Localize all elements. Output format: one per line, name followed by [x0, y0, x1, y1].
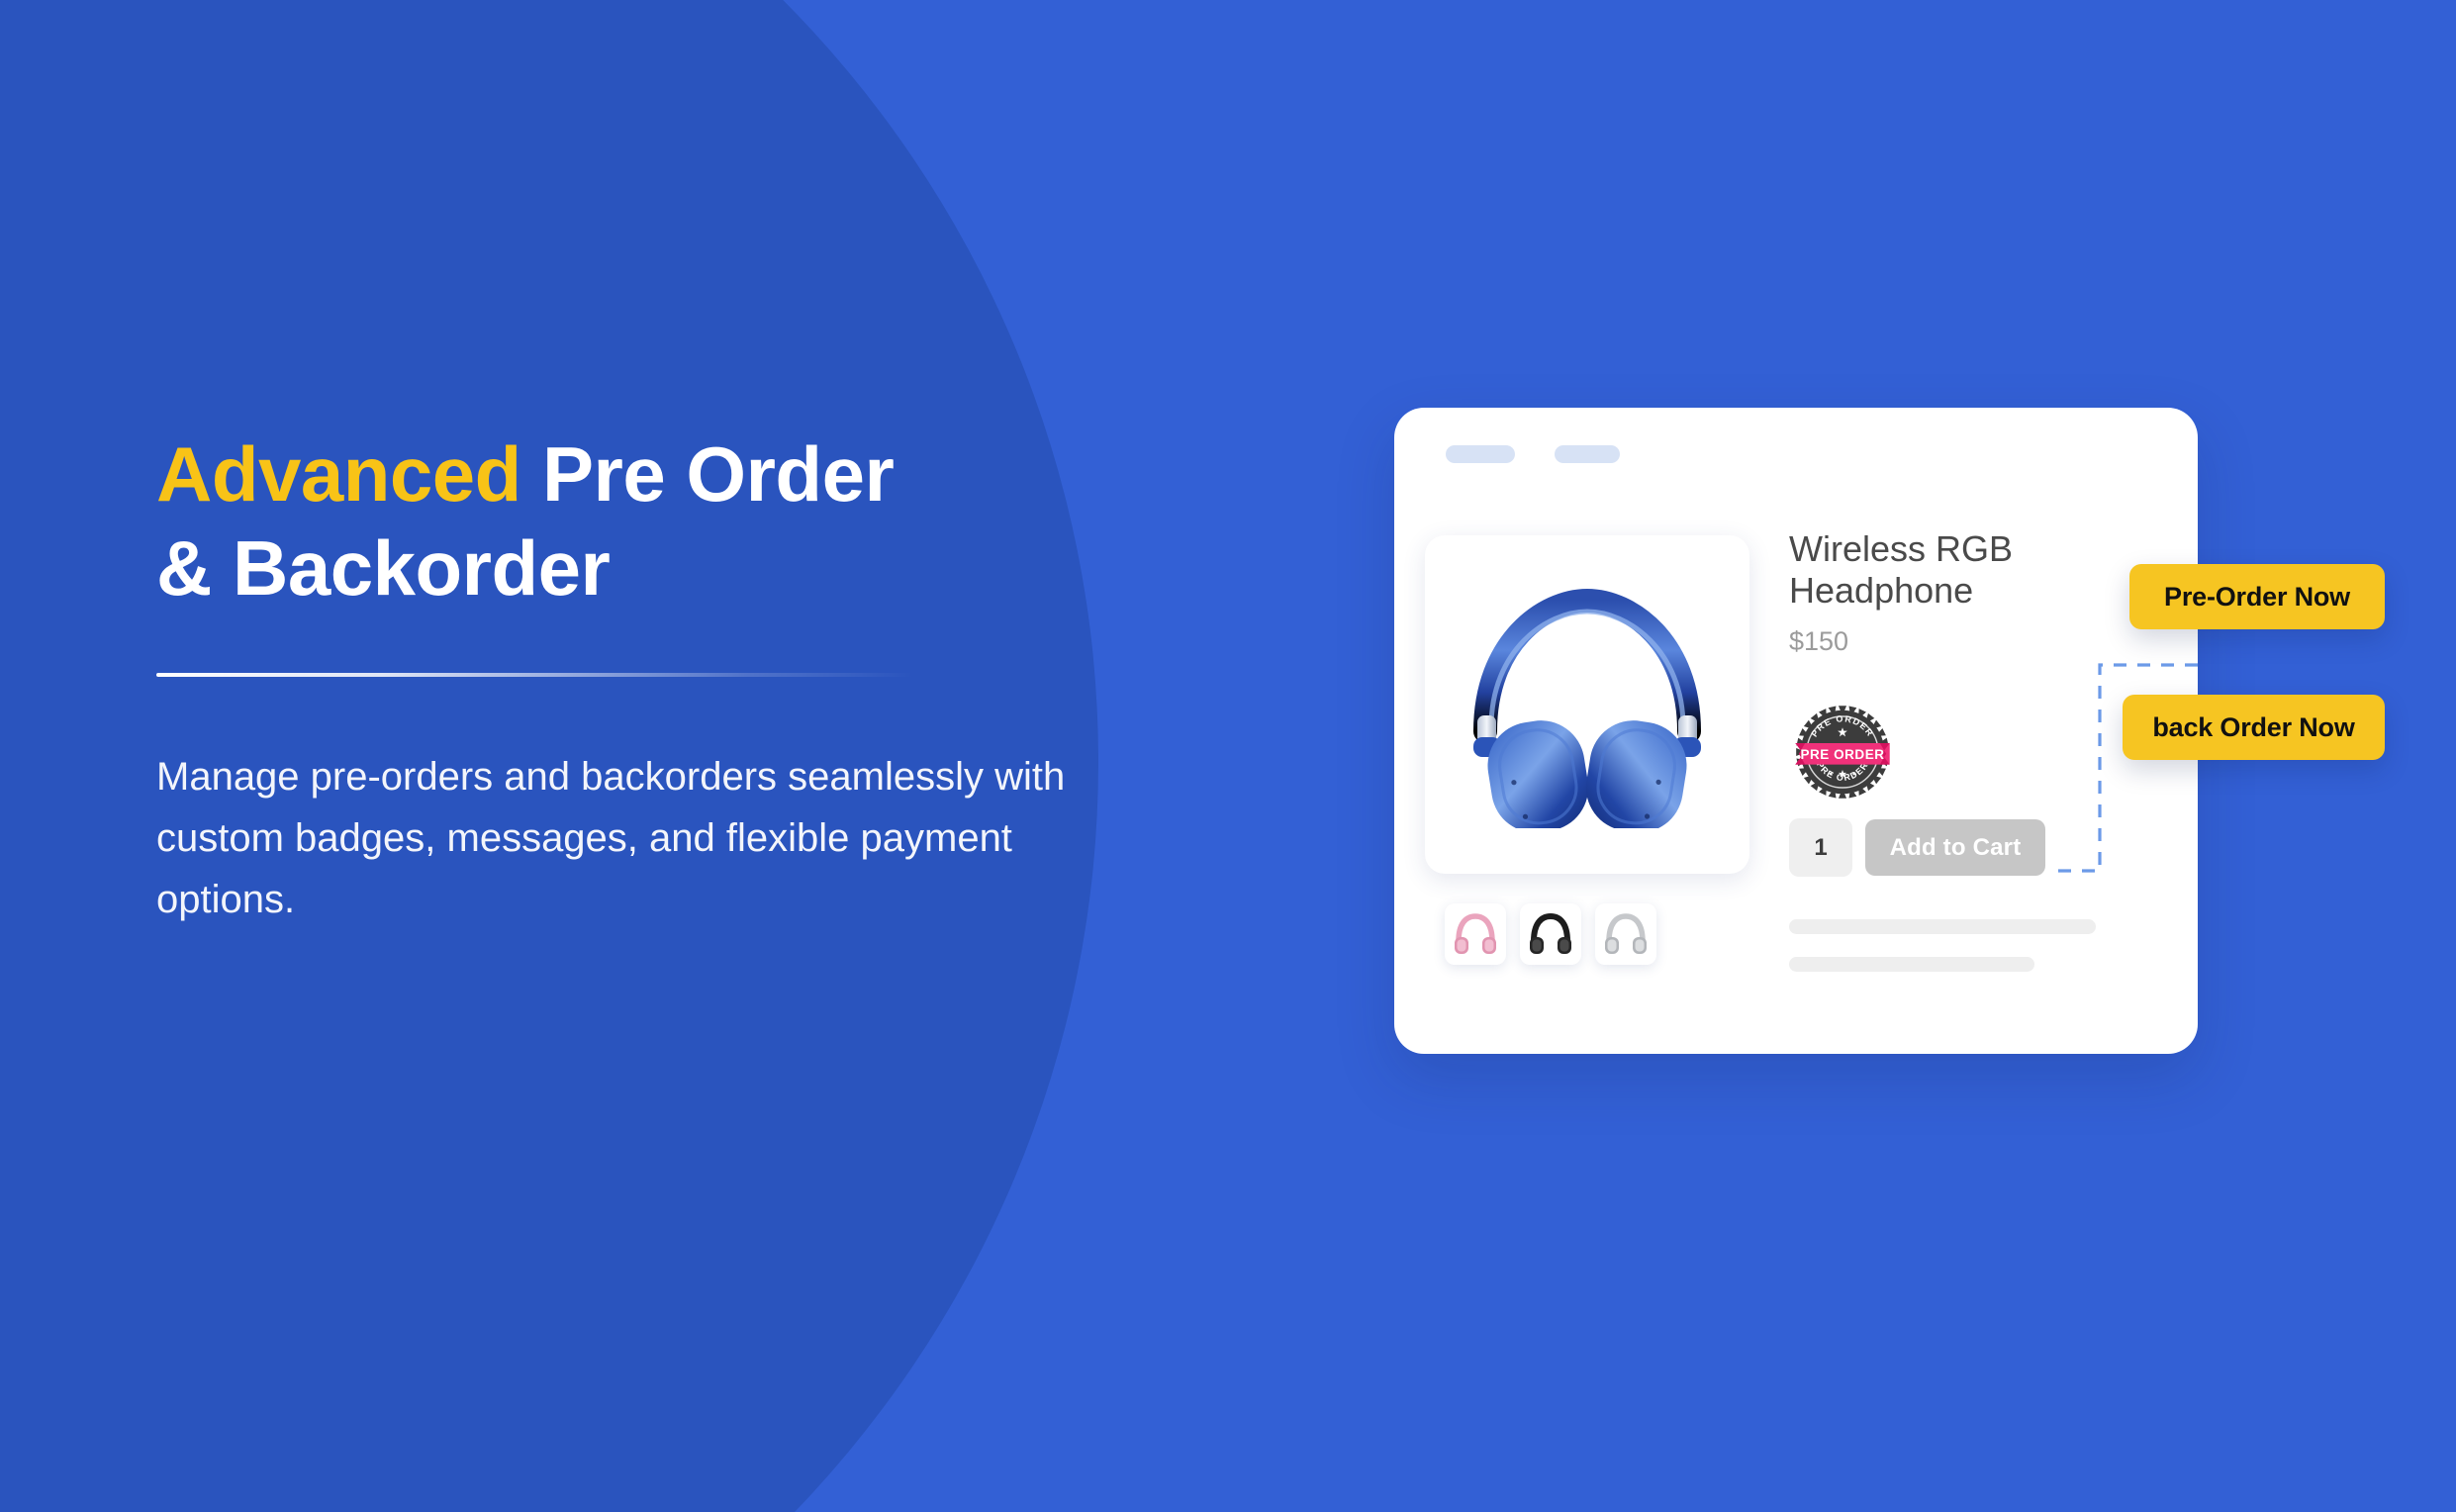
pink-headphone-icon [1451, 911, 1500, 957]
hero-banner: Advanced Pre Order & Backorder Manage pr… [0, 0, 2456, 1512]
product-card: Wireless RGB Headphone $150 [1394, 408, 2198, 1054]
product-info: Wireless RGB Headphone $150 [1789, 528, 2116, 657]
description-placeholder [1789, 919, 2096, 972]
headline-rest: Pre Order [521, 430, 895, 518]
black-headphone-thumbnail[interactable] [1520, 903, 1581, 965]
headline-accent-word: Advanced [156, 430, 521, 518]
add-to-cart-button[interactable]: Add to Cart [1865, 819, 2045, 876]
product-thumbnail-strip [1445, 903, 1656, 965]
browser-tab-bar [1446, 445, 1620, 463]
hero-subcopy: Manage pre-orders and backorders seamles… [156, 746, 1106, 930]
divider [156, 673, 913, 677]
purchase-controls: Add to Cart [1789, 818, 2045, 877]
product-title: Wireless RGB Headphone [1789, 528, 2056, 613]
silver-headphone-thumbnail[interactable] [1595, 903, 1656, 965]
silver-headphone-icon [1601, 911, 1651, 957]
pre-order-badge: PRE ORDER PRE ORDER PRE ORDER [1789, 699, 1896, 805]
badge-ribbon-text: PRE ORDER [1800, 747, 1884, 762]
skeleton-line-1 [1789, 919, 2096, 934]
browser-tab-placeholder-2[interactable] [1555, 445, 1620, 463]
blue-headphone-icon [1454, 581, 1721, 828]
pre-order-now-button[interactable]: Pre-Order Now [2129, 564, 2385, 629]
quantity-input[interactable] [1789, 818, 1852, 877]
hero-copy-block: Advanced Pre Order & Backorder Manage pr… [156, 427, 1156, 930]
page-title: Advanced Pre Order & Backorder [156, 427, 1156, 615]
product-price: $150 [1789, 626, 2116, 657]
headline-line-two: & Backorder [156, 524, 610, 612]
skeleton-line-2 [1789, 957, 2034, 972]
pink-headphone-thumbnail[interactable] [1445, 903, 1506, 965]
back-order-now-button[interactable]: back Order Now [2123, 695, 2385, 760]
black-headphone-icon [1526, 911, 1575, 957]
pre-order-stamp-icon: PRE ORDER PRE ORDER PRE ORDER [1789, 699, 1896, 805]
product-image-frame[interactable] [1425, 535, 1749, 874]
browser-tab-placeholder-1[interactable] [1446, 445, 1515, 463]
